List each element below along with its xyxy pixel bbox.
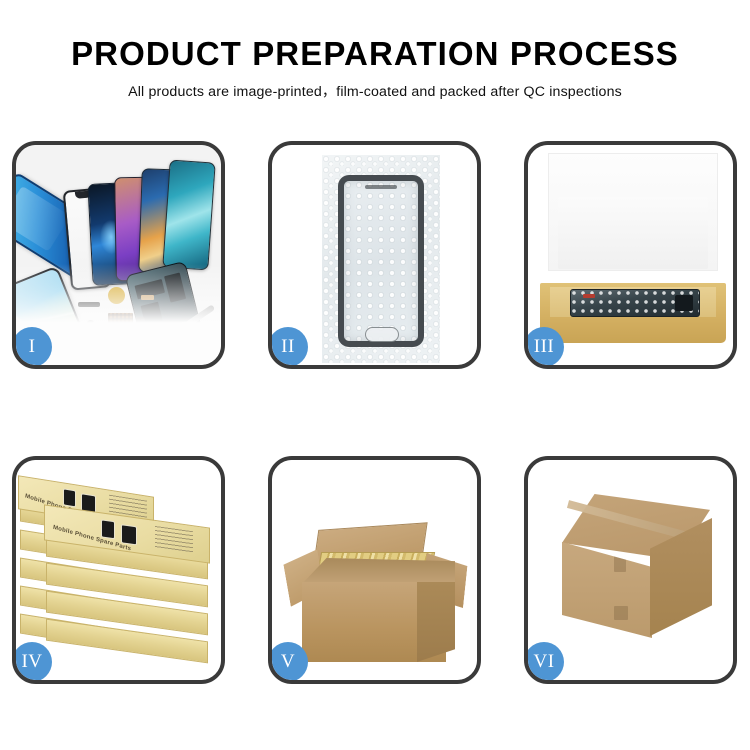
box-spec-lines-front [155, 526, 193, 553]
sealed-carton-image [528, 460, 733, 680]
box-thumb-front-a [101, 519, 115, 539]
component-connector [78, 302, 100, 307]
open-carton-image [272, 460, 477, 680]
phone-logic-board [125, 261, 207, 365]
process-step-panel-3[interactable]: III [524, 141, 737, 369]
carton-top-rim [302, 558, 455, 584]
kraft-box-tray [540, 283, 726, 343]
process-step-panel-5[interactable]: V [268, 456, 481, 684]
process-step-panel-6[interactable]: VI [524, 456, 737, 684]
component-flex-cable-b [136, 317, 145, 336]
carton-handle-notch-bottom [614, 606, 628, 620]
component-chip-b [110, 341, 122, 349]
page-header: PRODUCT PREPARATION PROCESS All products… [0, 34, 750, 101]
carton-handle-notch-top [614, 556, 626, 572]
phone-screen-glass [338, 175, 424, 347]
sealed-carton-front [562, 542, 652, 638]
carton-side-face [417, 582, 455, 662]
packed-screen-part [570, 289, 700, 317]
box-thumb-front-b [121, 524, 137, 545]
component-gold-coil [108, 287, 125, 304]
component-screw-b [210, 352, 215, 357]
page-subtitle: All products are image-printed，film-coat… [0, 83, 750, 101]
bubble-wrapped-screen-image [272, 145, 477, 365]
step-badge-4: IV [12, 642, 52, 682]
step-badge-6: VI [524, 642, 564, 682]
process-step-panel-1[interactable]: I [12, 141, 225, 369]
foam-padding [558, 197, 708, 269]
phone-screen-teal [162, 160, 215, 271]
component-flex-cable-a [87, 320, 94, 340]
process-step-panel-4[interactable]: Mobile Phone Spare Parts Mobile Phone Sp… [12, 456, 225, 684]
kraft-box-interior [550, 287, 716, 317]
stacked-boxes-image: Mobile Phone Spare Parts Mobile Phone Sp… [16, 460, 221, 680]
repair-tool [179, 304, 216, 331]
component-shield-grid [108, 313, 133, 336]
process-step-panel-2[interactable]: II [268, 141, 481, 369]
step-badge-5: V [268, 642, 308, 682]
component-chip-c [126, 340, 135, 350]
bubble-wrap-sheet [322, 155, 440, 363]
component-screw-a [202, 345, 207, 350]
box-thumb-rear-a [63, 488, 76, 507]
step-badge-3: III [524, 327, 564, 367]
page-title: PRODUCT PREPARATION PROCESS [0, 34, 750, 74]
component-flex-tan [141, 295, 154, 300]
process-step-grid: I II III [12, 141, 738, 684]
product-preparation-page: PRODUCT PREPARATION PROCESS All products… [0, 0, 750, 750]
phone-screens-and-parts-image [16, 145, 221, 365]
step-badge-2: II [268, 327, 308, 367]
component-chip-a [94, 341, 104, 350]
part-in-open-box-image [528, 145, 733, 365]
step-badge-1: I [12, 327, 52, 367]
